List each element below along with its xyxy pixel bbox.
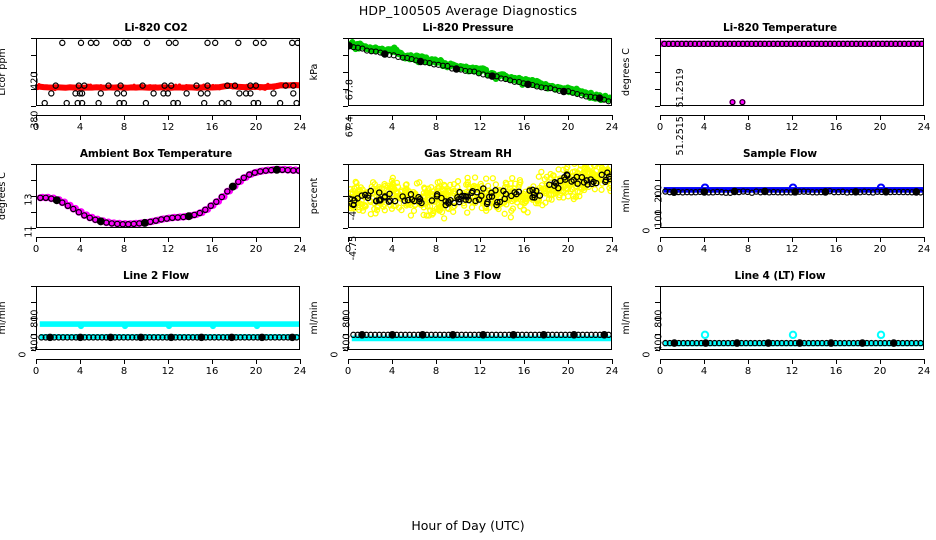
x-tick [568,115,569,120]
x-tick [212,359,213,364]
x-tick [80,359,81,364]
x-tick [704,115,705,120]
x-tick-label: 8 [422,122,450,133]
x-tick [924,237,925,242]
x-tick-label: 12 [466,244,494,255]
y-tick-label: 51.2519 [675,68,686,107]
x-tick-label: 20 [554,122,582,133]
y-tick [343,106,348,107]
x-tick-label: 8 [734,366,762,377]
data-layer [37,165,299,227]
x-tick [124,359,125,364]
x-tick-label: 4 [378,366,406,377]
y-tick [31,286,36,287]
y-axis-label: ml/min [0,301,8,334]
x-tick [212,115,213,120]
y-tick [655,180,660,181]
x-tick-label: 0 [22,366,50,377]
y-tick-label: 800 [342,310,353,328]
y-tick-label: 800 [30,310,41,328]
x-tick [348,359,349,364]
figure-title: HDP_100505 Average Diagnostics [0,3,936,18]
x-tick [80,237,81,242]
panel-title: Li-820 Pressure [312,22,624,34]
y-axis-label: ml/min [621,301,632,334]
panel-title: Line 3 Flow [312,270,624,282]
x-tick [568,359,569,364]
y-tick-label: 0 [642,351,653,357]
panel-title: Li-820 CO2 [0,22,312,34]
x-tick-label: 12 [154,122,182,133]
x-tick [436,237,437,242]
panel-li-820-co2: Li-820 CO2380420Licor ppm04812162024 [0,22,312,148]
x-tick-label: 4 [690,244,718,255]
x-tick [660,359,661,364]
x-tick [792,359,793,364]
x-tick [836,237,837,242]
x-tick-label: 16 [822,366,850,377]
x-tick-label: 24 [286,122,314,133]
x-tick-label: 4 [66,366,94,377]
x-tick [36,237,37,242]
x-tick-label: 20 [242,244,270,255]
x-tick-label: 24 [598,366,626,377]
y-tick-label: 67.8 [345,79,356,100]
x-tick [124,115,125,120]
x-tick [836,359,837,364]
data-layer [661,287,923,349]
panel-title: Line 4 (LT) Flow [624,270,936,282]
x-tick [660,237,661,242]
x-tick [300,237,301,242]
y-tick-label: 420 [30,72,41,90]
x-tick-label: 20 [866,366,894,377]
x-tick [792,115,793,120]
x-tick [792,237,793,242]
y-tick [343,55,348,56]
plot-box [348,164,612,228]
x-tick [256,359,257,364]
x-tick [748,115,749,120]
y-tick-label: 0 [330,351,341,357]
y-tick [655,89,660,90]
y-tick [343,180,348,181]
y-tick [655,55,660,56]
y-tick [655,286,660,287]
y-tick [31,164,36,165]
x-tick-label: 8 [422,244,450,255]
x-tick-label: 16 [822,122,850,133]
plot-box [36,286,300,350]
plot-box [36,38,300,106]
x-tick-label: 24 [286,244,314,255]
x-tick [704,359,705,364]
x-tick-label: 0 [334,366,362,377]
y-tick-label: 11 [24,225,35,237]
x-tick-label: 24 [910,366,936,377]
y-axis-label: degrees C [0,172,8,220]
x-tick-label: 12 [466,366,494,377]
x-tick-label: 4 [66,244,94,255]
y-tick [343,38,348,39]
x-tick-label: 4 [378,122,406,133]
x-tick-label: 20 [554,244,582,255]
y-tick [31,55,36,56]
x-tick [80,115,81,120]
x-tick-label: 12 [466,122,494,133]
plot-box [348,286,612,350]
y-tick [343,164,348,165]
x-tick-label: 20 [242,122,270,133]
panel-title: Sample Flow [624,148,936,160]
x-tick [348,115,349,120]
x-tick [924,359,925,364]
x-tick-label: 12 [778,122,806,133]
data-layer [349,165,611,227]
x-tick-label: 16 [198,244,226,255]
x-tick-label: 0 [334,244,362,255]
x-tick-label: 4 [378,244,406,255]
y-tick [343,286,348,287]
x-tick [436,115,437,120]
x-tick-label: 0 [334,122,362,133]
x-tick [480,237,481,242]
x-tick [300,115,301,120]
data-layer [37,39,299,105]
x-tick [392,359,393,364]
x-tick [480,359,481,364]
x-tick [168,115,169,120]
y-tick [31,38,36,39]
y-tick [31,212,36,213]
x-tick [480,115,481,120]
x-tick [568,237,569,242]
y-axis-label: kPa [309,64,320,81]
x-tick [392,237,393,242]
x-tick [256,237,257,242]
x-tick-label: 24 [910,122,936,133]
panel-gas-stream-rh: Gas Stream RH-4.75-4.60percent0481216202… [312,148,624,270]
y-axis-label: percent [309,178,320,214]
x-tick [924,115,925,120]
x-tick-label: 16 [198,366,226,377]
x-tick-label: 16 [510,244,538,255]
x-tick [392,115,393,120]
data-layer [349,287,611,349]
panel-line-4-lt-flow: Line 4 (LT) Flow0400800ml/min04812162024 [624,270,936,392]
x-tick [436,359,437,364]
x-tick [880,359,881,364]
y-tick [655,106,660,107]
y-tick-label: 400 [342,333,353,351]
y-tick [655,38,660,39]
x-tick-label: 8 [110,366,138,377]
x-tick-label: 24 [598,244,626,255]
plot-box [36,164,300,228]
plot-box [660,38,924,106]
y-tick-label: 13 [24,193,35,205]
x-tick-label: 16 [822,244,850,255]
x-tick-label: 0 [646,366,674,377]
x-tick-label: 8 [422,366,450,377]
x-tick [748,359,749,364]
y-tick-label: 800 [654,310,665,328]
data-layer [661,165,923,227]
y-tick-label: 200 [654,185,665,203]
x-tick-label: 16 [510,366,538,377]
x-tick-label: 0 [646,122,674,133]
x-tick-label: 24 [286,366,314,377]
data-layer [661,39,923,105]
x-tick-label: 4 [66,122,94,133]
y-tick [655,302,660,303]
y-tick-label: 400 [30,333,41,351]
y-axis-label: ml/min [621,179,632,212]
y-tick [655,164,660,165]
x-tick-label: 12 [778,366,806,377]
plot-box [660,286,924,350]
y-axis-label: degrees C [621,48,632,96]
y-tick-label: 400 [654,333,665,351]
x-tick-label: 12 [778,244,806,255]
x-tick [836,115,837,120]
panel-ambient-box-temperature: Ambient Box Temperature1113degrees C0481… [0,148,312,270]
y-axis-label: Licor ppm [0,48,8,95]
x-tick-label: 12 [154,366,182,377]
x-tick-label: 16 [510,122,538,133]
x-tick-label: 16 [198,122,226,133]
x-tick-label: 20 [866,244,894,255]
x-tick-label: 0 [22,122,50,133]
panel-li-820-pressure: Li-820 Pressure67.467.8kPa04812162024 [312,22,624,148]
x-tick [348,237,349,242]
y-tick [31,106,36,107]
x-tick [612,237,613,242]
y-tick [655,228,660,229]
plot-box [348,38,612,106]
x-tick [612,115,613,120]
y-tick [343,228,348,229]
x-tick [748,237,749,242]
x-tick [168,359,169,364]
panel-title: Ambient Box Temperature [0,148,312,160]
x-tick-label: 20 [242,366,270,377]
data-layer [349,39,611,105]
y-tick-label: 100 [654,209,665,227]
x-tick-label: 0 [22,244,50,255]
x-tick-label: 8 [734,244,762,255]
y-tick [343,302,348,303]
x-tick-label: 20 [866,122,894,133]
x-tick [880,115,881,120]
panel-line-3-flow: Line 3 Flow0400800ml/min04812162024 [312,270,624,392]
panel-title: Gas Stream RH [312,148,624,160]
x-tick-label: 12 [154,244,182,255]
panel-title: Li-820 Temperature [624,22,936,34]
x-tick [524,115,525,120]
y-tick [31,302,36,303]
x-tick [212,237,213,242]
x-tick [524,359,525,364]
y-tick-label: -4.60 [348,196,359,221]
y-tick-label: 0 [18,351,29,357]
panel-title: Line 2 Flow [0,270,312,282]
y-tick [343,72,348,73]
y-tick-label: 0 [642,228,653,234]
x-tick-label: 8 [110,122,138,133]
x-tick-label: 4 [690,122,718,133]
x-tick-label: 4 [690,366,718,377]
panel-li-820-temperature: Li-820 Temperature51.251551.2519degrees … [624,22,936,148]
x-tick-label: 0 [646,244,674,255]
x-tick [36,115,37,120]
x-tick-label: 8 [110,244,138,255]
x-tick [880,237,881,242]
x-tick [660,115,661,120]
x-tick-label: 24 [910,244,936,255]
x-tick [524,237,525,242]
y-axis-label: ml/min [309,301,320,334]
y-tick [655,72,660,73]
x-tick [300,359,301,364]
x-tick [124,237,125,242]
x-tick-label: 20 [554,366,582,377]
data-layer [37,287,299,349]
x-tick [612,359,613,364]
figure-xlabel: Hour of Day (UTC) [0,518,936,533]
x-tick [36,359,37,364]
x-tick-label: 8 [734,122,762,133]
y-tick [31,180,36,181]
panel-line-2-flow: Line 2 Flow0400800ml/min04812162024 [0,270,312,392]
plot-box [660,164,924,228]
x-tick [704,237,705,242]
x-tick [168,237,169,242]
x-tick-label: 24 [598,122,626,133]
panel-sample-flow: Sample Flow0100200ml/min04812162024 [624,148,936,270]
x-tick [256,115,257,120]
